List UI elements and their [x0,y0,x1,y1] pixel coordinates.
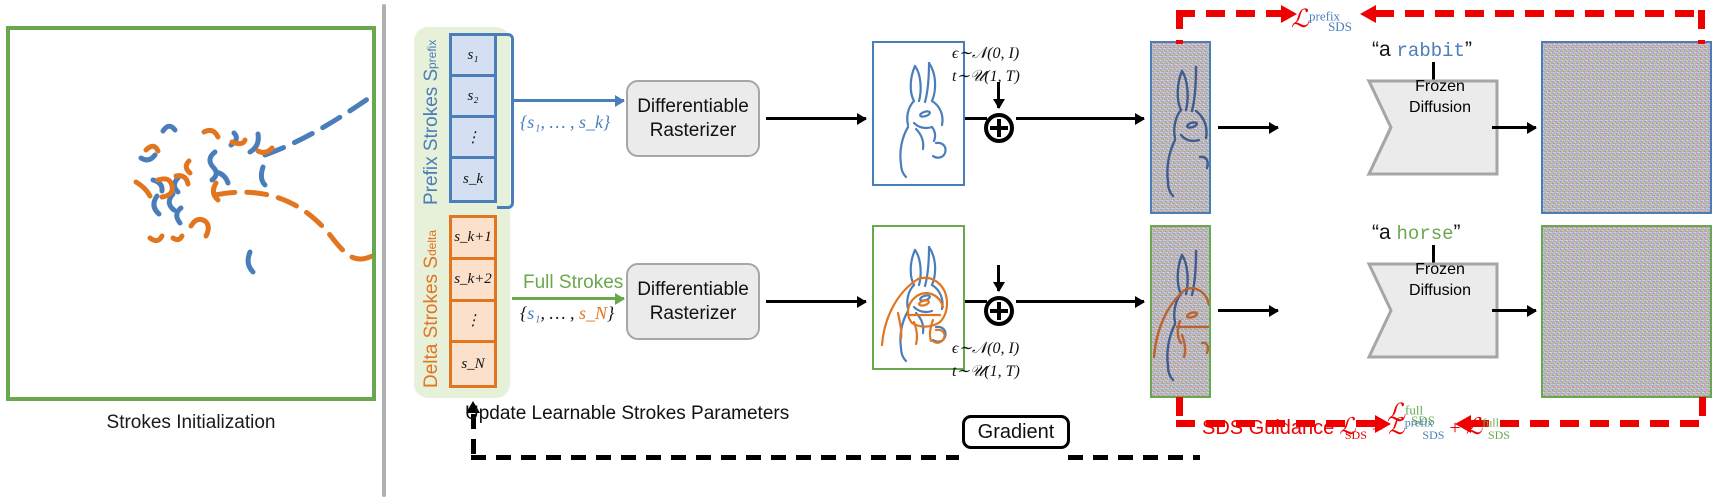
diffusion-line-1: Frozen [1379,77,1501,98]
add-noise-operator-bottom [984,296,1014,326]
full-set-first: s₁ [527,303,540,323]
rasterizer-line-1: Differentiable [637,278,749,302]
loss-symbol: ℒ [1291,6,1309,33]
list-item[interactable]: s₂ [452,77,494,118]
noisy-horse-overlay [1152,227,1209,396]
section-divider [382,4,386,497]
list-item[interactable]: s_k [452,159,494,200]
plus-in-line-bottom [965,300,987,303]
diffusion-line-2: Diffusion [1379,281,1501,302]
prefix-brace [497,33,514,209]
noise-epsilon: ϵ∼𝒩(0, I) [952,42,1020,65]
predicted-noise-image-top [1541,41,1712,214]
prompt-quote-open: “a [1372,221,1397,244]
sds-total-sub: SDS [1345,428,1367,442]
noise-formula-top: ϵ∼𝒩(0, I) t∼𝒰(1, T) [952,42,1020,88]
sds-full-sub: SDS [1488,428,1510,442]
prefix-strokes-list[interactable]: s₁ s₂ ⋮ s_k [449,33,497,203]
delta-strokes-label-text: Delta Strokes S [421,256,443,388]
loss-prefix-label: ℒprefixSDS [1291,4,1352,35]
sds-guidance-text: SDS Guidance [1202,417,1334,439]
list-item[interactable]: s_N [452,343,494,385]
sds-prefix-sub: SDS [1422,428,1444,442]
list-item[interactable]: ⋮ [452,302,494,344]
diffusion-output-arrow-top [1492,126,1536,129]
delta-strokes-label: Delta Strokes Sdelta [421,212,443,388]
equals-sign: = [1372,417,1383,439]
predicted-noise-image-bottom [1541,225,1712,398]
diffusion-line-2: Diffusion [1379,98,1501,119]
rasterizer-line-1: Differentiable [637,95,749,119]
prompt-quote-close: ” [1454,221,1461,244]
rasterizer-output-arrow-top [766,117,866,120]
rasterizer-line-2: Rasterizer [650,302,737,326]
plus-in-line-top [965,117,987,120]
prefix-strokes-arrow [512,99,624,102]
list-item[interactable]: s_k+2 [452,260,494,302]
prompt-subject-word: horse [1397,223,1454,245]
noise-inject-arrow-top [997,82,1000,108]
noisy-horse-image [1150,225,1211,398]
prefix-strokes-label-text: Prefix Strokes S [421,69,443,205]
loss-subscript: SDS [1328,19,1352,34]
delta-strokes-list[interactable]: s_k+1 s_k+2 ⋮ s_N [449,215,497,388]
sds-full-symbol: ℒ [1466,414,1483,439]
loss-path-left-to-loss-top [1176,10,1282,17]
full-set-last: s_N [579,303,607,323]
list-item[interactable]: ⋮ [452,118,494,159]
strokes-initialization-canvas [6,26,376,401]
differentiable-rasterizer-bottom[interactable]: Differentiable Rasterizer [626,263,760,340]
noisy-rabbit-image [1150,41,1211,214]
noise-inject-arrow-bottom [997,265,1000,291]
prefix-strokes-label-sub: prefix [425,39,439,68]
diffusion-input-arrow-bottom [1218,309,1278,312]
prompt-text-top: “a rabbit” [1372,38,1472,62]
rabbit-sketch-drawing [874,43,963,184]
rasterizer-output-arrow-bottom [766,300,866,303]
diffusion-line-1: Frozen [1379,260,1501,281]
prompt-quote-close: ” [1465,38,1472,61]
noise-formula-bottom: ϵ∼𝒩(0, I) t∼𝒰(1, T) [952,337,1020,383]
init-strokes-drawing [10,30,372,397]
gradient-path-left [471,455,959,460]
noisy-rabbit-overlay [1152,43,1209,212]
noise-timestep: t∼𝒰(1, T) [952,360,1020,383]
gradient-path-right [1068,455,1200,460]
delta-strokes-label-sub: delta [425,230,439,256]
prefix-strokes-label: Prefix Strokes Sprefix [421,33,443,205]
horse-sketch-drawing [874,227,963,368]
noise-epsilon: ϵ∼𝒩(0, I) [952,337,1020,360]
update-parameters-label: Update Learnable Strokes Parameters [465,403,789,425]
init-caption: Strokes Initialization [6,412,376,434]
frozen-diffusion-top[interactable]: Frozen Diffusion [1365,77,1501,178]
plus-sign: + [1449,417,1460,439]
prefix-set-label: {s₁, … , s_k} [520,112,610,133]
frozen-diffusion-bottom[interactable]: Frozen Diffusion [1365,260,1501,361]
noise-timestep: t∼𝒰(1, T) [952,65,1020,88]
differentiable-rasterizer-top[interactable]: Differentiable Rasterizer [626,80,760,157]
full-set-label: {s₁, … , s_N} [520,303,614,324]
loss-path-down-right-top [1698,10,1705,44]
diffusion-input-arrow-top [1218,126,1278,129]
list-item[interactable]: s_k+1 [452,218,494,260]
full-strokes-label: Full Strokes [523,272,623,294]
prompt-quote-open: “a [1372,38,1397,61]
sds-prefix-symbol: ℒ [1388,414,1405,439]
noisy-image-arrow-top [1016,117,1144,120]
add-noise-operator-top [984,113,1014,143]
rasterizer-line-2: Rasterizer [650,119,737,143]
loss-path-up-right-bottom [1699,397,1706,427]
noisy-image-arrow-bottom [1016,300,1144,303]
gradient-box[interactable]: Gradient [962,415,1070,449]
prompt-text-bottom: “a horse” [1372,221,1461,245]
full-set-mid: , … , [540,303,579,323]
loss-path-right-to-loss-top [1375,10,1705,17]
full-set-close: } [607,303,614,323]
list-item[interactable]: s₁ [452,36,494,77]
diffusion-output-arrow-bottom [1492,309,1536,312]
sds-guidance-equation: SDS Guidance ℒSDS = ℒprefixSDS + ℒfullSD… [1202,414,1510,443]
full-strokes-arrow [512,297,624,300]
prompt-subject-word: rabbit [1397,40,1465,62]
